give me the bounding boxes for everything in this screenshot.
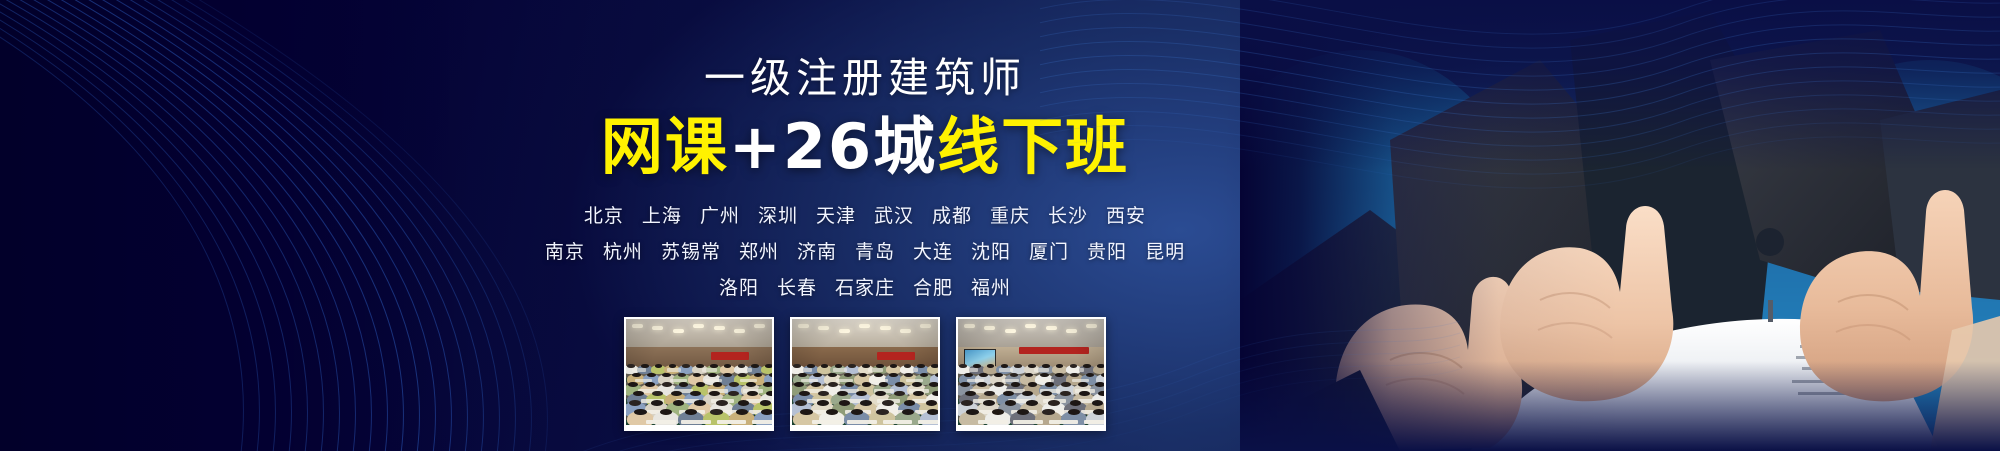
- photo-content: [792, 319, 938, 425]
- photo-audience: [958, 364, 1104, 425]
- city-row: 南京杭州苏锡常郑州济南青岛大连沈阳厦门贵阳昆明: [536, 237, 1194, 264]
- classroom-photo-strip: [624, 317, 1106, 431]
- city-name: 济南: [797, 237, 837, 264]
- classroom-photo: [956, 317, 1106, 431]
- banner-content: 一级注册建筑师 网课+26城线下班 北京上海广州深圳天津武汉成都重庆长沙西安南京…: [470, 0, 1260, 451]
- city-name: 厦门: [1029, 237, 1069, 264]
- city-list: 北京上海广州深圳天津武汉成都重庆长沙西安南京杭州苏锡常郑州济南青岛大连沈阳厦门贵…: [536, 201, 1194, 300]
- headline-part-online-course: 网课: [601, 110, 729, 183]
- city-name: 北京: [584, 201, 624, 228]
- hero-image-thumbs-up: [1240, 0, 2000, 451]
- headline-part-offline-class: 线下班: [937, 110, 1129, 183]
- city-name: 西安: [1106, 201, 1146, 228]
- city-name: 上海: [642, 201, 682, 228]
- city-name: 郑州: [739, 237, 779, 264]
- city-name: 武汉: [874, 201, 914, 228]
- headline-part-26-cities: +26城: [729, 110, 937, 183]
- background-left-shade: [0, 0, 470, 451]
- city-name: 南京: [545, 237, 585, 264]
- photo-audience: [626, 364, 772, 425]
- city-name: 重庆: [990, 201, 1030, 228]
- city-name: 长沙: [1048, 201, 1088, 228]
- city-name: 大连: [913, 237, 953, 264]
- photo-content: [626, 319, 772, 425]
- city-name: 天津: [816, 201, 856, 228]
- city-name: 昆明: [1145, 237, 1185, 264]
- city-name: 杭州: [603, 237, 643, 264]
- city-name: 洛阳: [719, 273, 759, 300]
- classroom-photo: [790, 317, 940, 431]
- city-name: 福州: [971, 273, 1011, 300]
- city-row: 洛阳长春石家庄合肥福州: [710, 273, 1020, 300]
- city-name: 成都: [932, 201, 972, 228]
- city-name: 石家庄: [835, 273, 895, 300]
- hero-top-fade: [1240, 0, 2000, 170]
- city-name: 长春: [777, 273, 817, 300]
- city-row: 北京上海广州深圳天津武汉成都重庆长沙西安: [575, 201, 1155, 228]
- city-name: 青岛: [855, 237, 895, 264]
- city-name: 贵阳: [1087, 237, 1127, 264]
- banner-headline: 网课+26城线下班: [601, 112, 1129, 181]
- classroom-photo: [624, 317, 774, 431]
- photo-audience: [792, 364, 938, 425]
- banner-subtitle: 一级注册建筑师: [704, 44, 1026, 104]
- city-name: 苏锡常: [661, 237, 721, 264]
- city-name: 沈阳: [971, 237, 1011, 264]
- promo-banner: 一级注册建筑师 网课+26城线下班 北京上海广州深圳天津武汉成都重庆长沙西安南京…: [0, 0, 2000, 451]
- city-name: 合肥: [913, 273, 953, 300]
- city-name: 广州: [700, 201, 740, 228]
- hero-bottom-fade: [1240, 361, 2000, 451]
- city-name: 深圳: [758, 201, 798, 228]
- photo-content: [958, 319, 1104, 425]
